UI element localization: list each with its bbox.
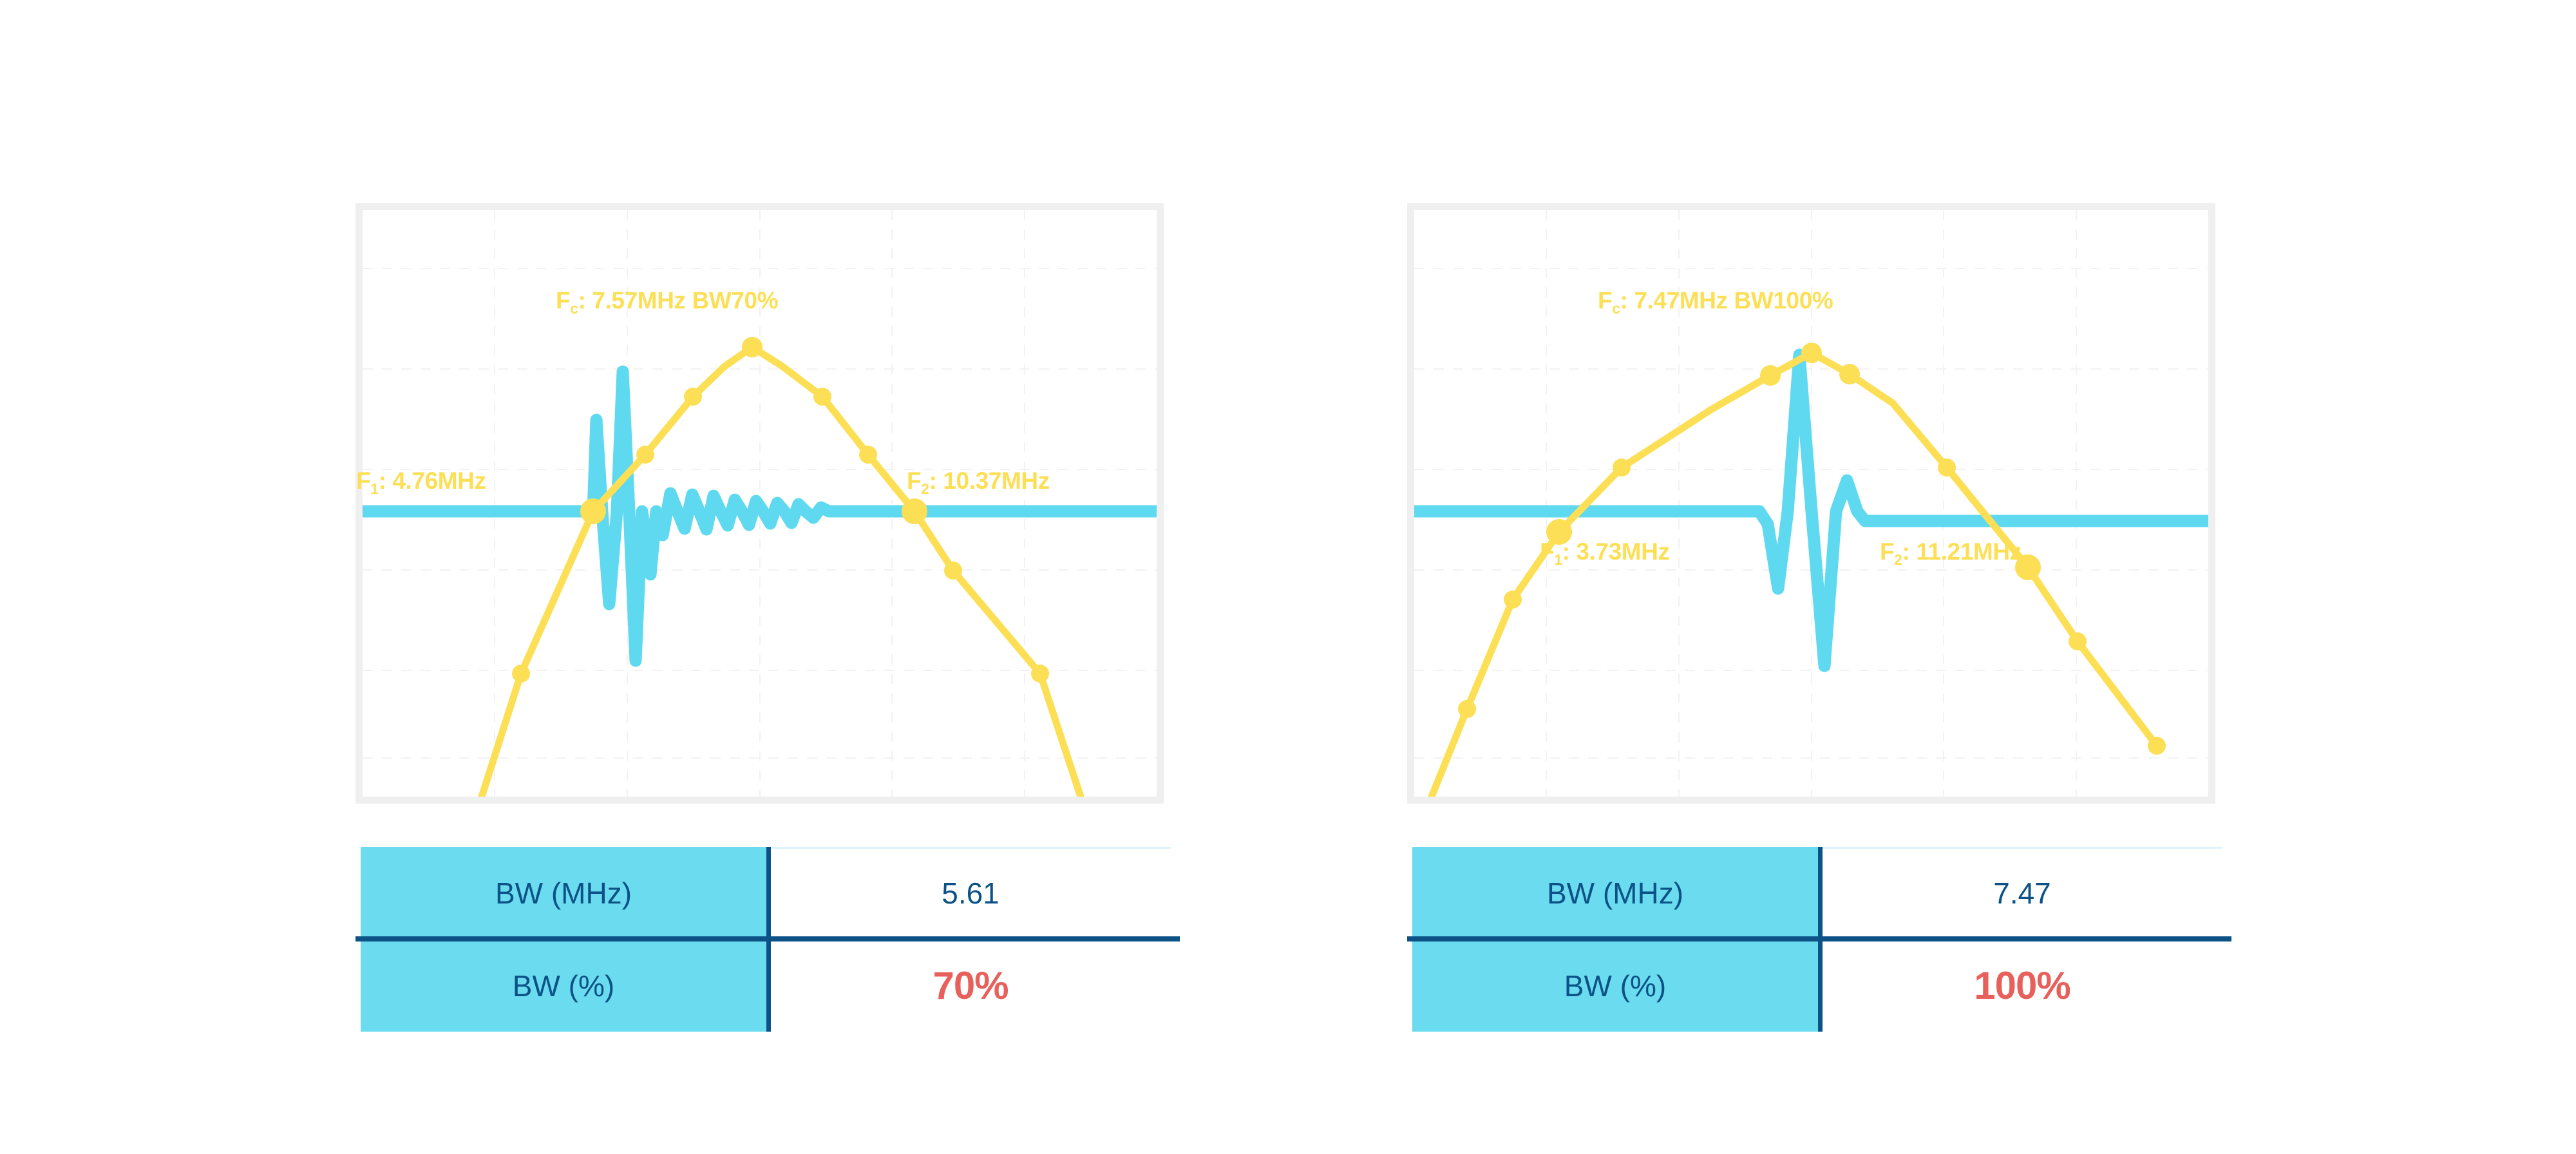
- label-f2-right: F2: 11.21MHz: [1880, 538, 2022, 569]
- label-f2-text-left: : 10.37MHz: [929, 468, 1050, 494]
- table-cell-bw-pct-value-right: 100%: [1818, 940, 2226, 1032]
- bw-table-grid-left: BW (MHz) 5.61 BW (%) 70%: [361, 847, 1175, 1032]
- table-value-percent: 70%: [933, 963, 1008, 1008]
- label-fc-left: Fc: 7.57MHz BW70%: [556, 287, 778, 317]
- label-f2-prefix-left: F: [907, 468, 921, 494]
- label-fc-sub-right: c: [1612, 300, 1620, 317]
- spectrum-plot-right: Fc: 7.47MHz BW100% F1: 3.73MHz F2: 11.21…: [1407, 203, 2215, 804]
- spectrum-line-left: [482, 347, 1081, 797]
- label-f1-prefix-right: F: [1540, 538, 1554, 565]
- table-value-number: 5.61: [942, 876, 999, 911]
- table-horizontal-divider-left: [355, 936, 1180, 941]
- table-row-header-bw-pct-right: BW (%): [1412, 940, 1818, 1032]
- table-header-label: BW (%): [1564, 969, 1666, 1003]
- table-value-number: 7.47: [1993, 876, 2051, 911]
- table-cell-bw-pct-value-left: 70%: [766, 940, 1175, 1032]
- table-horizontal-divider-right: [1407, 936, 2231, 941]
- label-fc-prefix-left: F: [556, 287, 570, 314]
- label-fc-right: Fc: 7.47MHz BW100%: [1598, 287, 1833, 317]
- label-f1-sub-left: 1: [370, 480, 378, 497]
- label-f2-sub-left: 2: [921, 480, 929, 497]
- label-fc-text-left: : 7.57MHz BW70%: [578, 287, 779, 314]
- label-f2-text-right: : 11.21MHz: [1902, 538, 2022, 565]
- label-fc-sub-left: c: [570, 300, 578, 317]
- figure-canvas: Fc: 7.57MHz BW70% F1: 4.76MHz F2: 10.37M…: [0, 0, 2576, 1154]
- label-f1-text-right: : 3.73MHz: [1562, 538, 1670, 565]
- table-header-label: BW (%): [513, 969, 614, 1003]
- table-header-label: BW (MHz): [495, 876, 632, 911]
- bw-table-grid-right: BW (MHz) 7.47 BW (%) 100%: [1412, 847, 2226, 1032]
- spectrum-plot-left: Fc: 7.57MHz BW70% F1: 4.76MHz F2: 10.37M…: [355, 203, 1164, 804]
- table-value-percent: 100%: [1974, 963, 2070, 1008]
- label-f1-text-left: : 4.76MHz: [379, 468, 486, 494]
- table-header-label: BW (MHz): [1547, 876, 1683, 911]
- label-f2-prefix-right: F: [1880, 538, 1894, 565]
- table-row-header-bw-pct-left: BW (%): [361, 940, 766, 1032]
- bw-table-left: BW (MHz) 5.61 BW (%) 70%: [355, 847, 1175, 1032]
- label-fc-prefix-right: F: [1598, 287, 1612, 314]
- table-row-header-bw-mhz-right: BW (MHz): [1412, 847, 1818, 939]
- label-f2-sub-right: 2: [1894, 551, 1902, 568]
- table-cell-bw-mhz-value-right: 7.47: [1818, 847, 2226, 939]
- label-f1-right: F1: 3.73MHz: [1540, 538, 1670, 569]
- table-row-header-bw-mhz-left: BW (MHz): [361, 847, 766, 939]
- label-f1-sub-right: 1: [1554, 551, 1562, 568]
- label-f2-left: F2: 10.37MHz: [907, 468, 1050, 498]
- bw-table-right: BW (MHz) 7.47 BW (%) 100%: [1407, 847, 2226, 1032]
- label-f1-left: F1: 4.76MHz: [356, 468, 486, 498]
- label-f1-prefix-left: F: [356, 468, 370, 494]
- table-cell-bw-mhz-value-left: 5.61: [766, 847, 1175, 939]
- label-fc-text-right: : 7.47MHz BW100%: [1620, 287, 1833, 314]
